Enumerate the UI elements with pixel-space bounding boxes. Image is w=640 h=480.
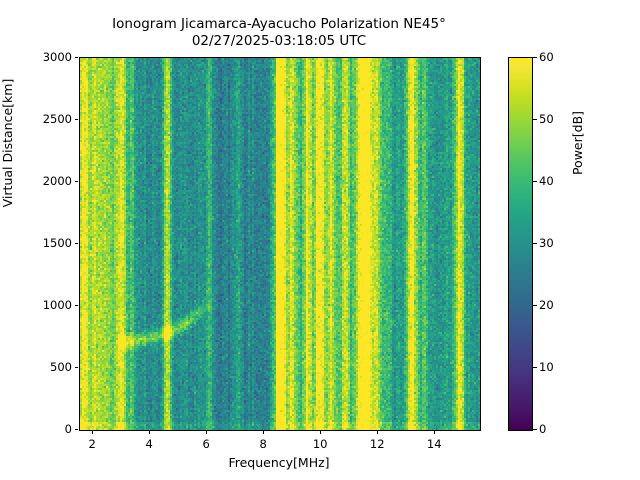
colorbar-tick-mark: [533, 429, 537, 430]
colorbar-tick-mark: [533, 119, 537, 120]
y-tick-label: 500: [17, 360, 72, 374]
x-tick-label: 2: [88, 437, 95, 451]
colorbar-tick-label: 30: [539, 236, 554, 250]
colorbar-tick-mark: [533, 181, 537, 182]
x-axis-label: Frequency[MHz]: [79, 455, 479, 470]
colorbar-tick-label: 60: [539, 50, 554, 64]
ionogram-figure: Ionogram Jicamarca-Ayacucho Polarization…: [0, 0, 640, 480]
colorbar-tick-mark: [533, 243, 537, 244]
x-tick-mark: [434, 431, 435, 435]
x-tick-mark: [263, 431, 264, 435]
x-tick-label: 12: [370, 437, 385, 451]
x-tick-mark: [206, 431, 207, 435]
y-tick-mark: [75, 181, 79, 182]
colorbar-tick-label: 50: [539, 112, 554, 126]
power-colorbar: [508, 57, 533, 431]
x-tick-label: 10: [313, 437, 328, 451]
colorbar-tick-mark: [533, 57, 537, 58]
y-tick-label: 1500: [17, 236, 72, 250]
colorbar-tick-mark: [533, 305, 537, 306]
colorbar-tick-label: 0: [539, 422, 546, 436]
y-tick-mark: [75, 429, 79, 430]
y-tick-label: 3000: [17, 50, 72, 64]
ionogram-axes: [79, 57, 481, 431]
x-tick-mark: [320, 431, 321, 435]
y-tick-label: 0: [17, 422, 72, 436]
y-tick-mark: [75, 243, 79, 244]
colorbar-tick-label: 20: [539, 298, 554, 312]
y-axis-label: Virtual Distance[km]: [0, 43, 15, 243]
y-tick-mark: [75, 119, 79, 120]
figure-title: Ionogram Jicamarca-Ayacucho Polarization…: [79, 16, 479, 51]
title-line-2: 02/27/2025-03:18:05 UTC: [79, 33, 479, 50]
y-tick-label: 1000: [17, 298, 72, 312]
x-tick-label: 8: [260, 437, 267, 451]
colorbar-gradient: [509, 58, 532, 430]
title-line-1: Ionogram Jicamarca-Ayacucho Polarization…: [79, 16, 479, 33]
x-tick-mark: [92, 431, 93, 435]
x-tick-label: 6: [202, 437, 209, 451]
ionogram-heatmap: [80, 58, 480, 430]
y-tick-mark: [75, 305, 79, 306]
y-tick-mark: [75, 367, 79, 368]
x-tick-label: 14: [427, 437, 442, 451]
y-tick-label: 2000: [17, 174, 72, 188]
x-tick-mark: [377, 431, 378, 435]
x-tick-label: 4: [145, 437, 152, 451]
colorbar-tick-label: 40: [539, 174, 554, 188]
colorbar-tick-label: 10: [539, 360, 554, 374]
y-tick-mark: [75, 57, 79, 58]
colorbar-tick-mark: [533, 367, 537, 368]
x-tick-mark: [149, 431, 150, 435]
y-tick-label: 2500: [17, 112, 72, 126]
colorbar-label: Power[dB]: [570, 43, 585, 243]
